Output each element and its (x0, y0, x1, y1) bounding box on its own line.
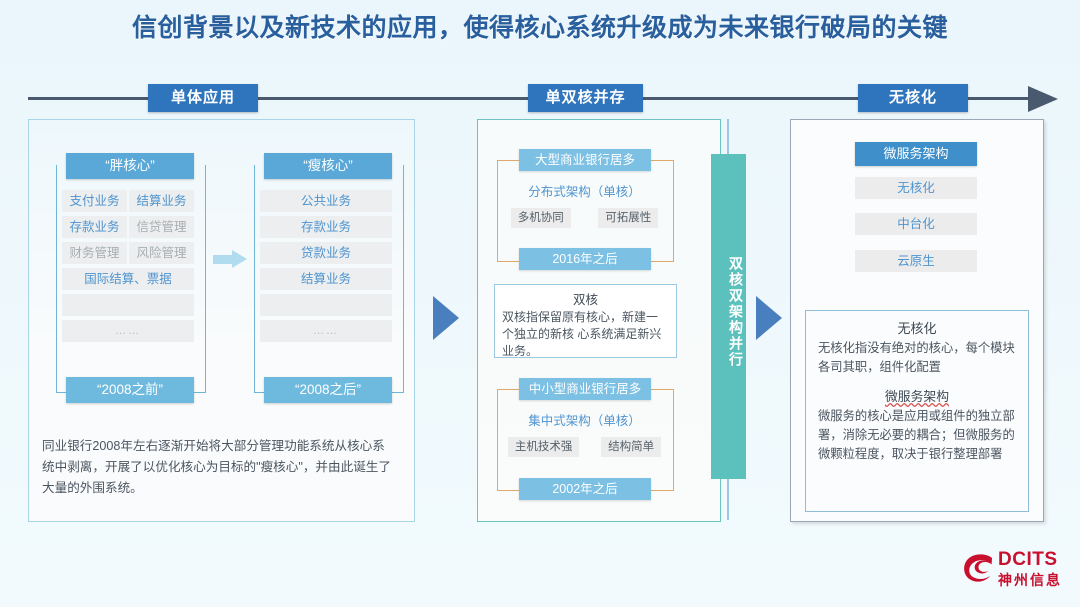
coreless-body-2: 微服务的核心是应用或组件的独立部署，消除无必要的耦合；但微服务的微颗粒程度，取决… (806, 405, 1028, 464)
list-item-blank (62, 294, 194, 316)
page-title: 信创背景以及新技术的应用，使得核心系统升级成为未来银行破局的关键 (0, 8, 1080, 44)
dual-core-body: 双核指保留原有核心，新建一个独立的新核 心系统满足新兴业务。 (495, 308, 676, 360)
list-item-ellipsis: …… (260, 320, 392, 342)
microservice-header: 微服务架构 (855, 142, 977, 166)
list-item: 无核化 (855, 177, 977, 199)
panel1-note: 同业银行2008年左右逐渐开始将大部分管理功能系统从核心系统中剥离，开展了以优化… (42, 436, 397, 499)
teal-stem-top (727, 119, 729, 155)
list-item: 风险管理 (129, 242, 194, 264)
company-logo: DCITS 神州信息 (962, 549, 1066, 593)
logo-brand: DCITS (998, 549, 1058, 571)
coreless-title: 无核化 (806, 318, 1028, 337)
thin-core-footer: “2008之后” (264, 377, 392, 403)
tag: 可拓展性 (598, 208, 658, 228)
list-item: 支付业务 (62, 190, 127, 212)
slide-root: 信创背景以及新技术的应用，使得核心系统升级成为未来银行破局的关键 单体应用 单双… (0, 0, 1080, 607)
list-item: 存款业务 (260, 216, 392, 238)
timeline-arrow-icon (1028, 86, 1058, 112)
fat-core-footer: “2008之前” (66, 377, 194, 403)
list-item: 存款业务 (62, 216, 127, 238)
large-bank-year: 2016年之后 (519, 248, 651, 270)
large-bank-caption: 大型商业银行居多 (519, 149, 651, 171)
fat-core-items: 支付业务 结算业务 存款业务 信贷管理 财务管理 风险管理 国际结算、票据 …… (62, 190, 194, 342)
timeline: 单体应用 单双核并存 无核化 (28, 86, 1058, 112)
small-bank-caption: 中小型商业银行居多 (519, 378, 651, 400)
thin-core-items: 公共业务 存款业务 贷款业务 结算业务 …… (260, 190, 392, 342)
large-bank-tags: 多机协同 可拓展性 (497, 208, 672, 228)
timeline-stage-1[interactable]: 单体应用 (148, 84, 258, 112)
list-item-blank (260, 294, 392, 316)
microservice-subtitle: 微服务架构 (806, 386, 1028, 405)
teal-stem-bottom (727, 479, 729, 520)
list-item: 公共业务 (260, 190, 392, 212)
panel-transition-arrow-1-icon (433, 296, 459, 340)
list-item: 贷款业务 (260, 242, 392, 264)
distributed-arch-label: 分布式架构（单核） (497, 181, 672, 200)
timeline-stage-2[interactable]: 单双核并存 (528, 84, 643, 112)
dual-core-title: 双核 (495, 289, 676, 308)
centralized-arch-label: 集中式架构（单核） (497, 410, 672, 429)
list-item: 财务管理 (62, 242, 127, 264)
coreless-definition-box: 无核化 无核化指没有绝对的核心，每个模块各司其职，组件化配置 微服务架构 微服务… (805, 310, 1029, 512)
list-item-ellipsis: …… (62, 320, 194, 342)
list-item: 结算业务 (129, 190, 194, 212)
small-bank-year: 2002年之后 (519, 478, 651, 500)
dual-core-definition-box: 双核 双核指保留原有核心，新建一个独立的新核 心系统满足新兴业务。 (494, 284, 677, 358)
dual-core-parallel-bar: 双核双架构并行 (711, 154, 746, 479)
dcits-swirl-icon (962, 553, 996, 585)
tag: 主机技术强 (508, 437, 580, 457)
list-item: 国际结算、票据 (62, 268, 194, 290)
list-item: 结算业务 (260, 268, 392, 290)
tag: 多机协同 (511, 208, 571, 228)
coreless-body-1: 无核化指没有绝对的核心，每个模块各司其职，组件化配置 (806, 337, 1028, 377)
logo-brand-cn: 神州信息 (998, 570, 1062, 590)
dual-core-parallel-label: 双核双架构并行 (711, 232, 746, 392)
fat-core-header: “胖核心” (66, 153, 194, 179)
thin-core-header: “瘦核心” (264, 153, 392, 179)
timeline-stage-3[interactable]: 无核化 (858, 84, 968, 112)
transition-arrow-icon (213, 250, 247, 268)
list-item: 中台化 (855, 213, 977, 235)
panel-transition-arrow-2-icon (756, 296, 782, 340)
list-item: 信贷管理 (129, 216, 194, 238)
small-bank-tags: 主机技术强 结构简单 (497, 437, 672, 457)
tag: 结构简单 (601, 437, 661, 457)
list-item: 云原生 (855, 250, 977, 272)
